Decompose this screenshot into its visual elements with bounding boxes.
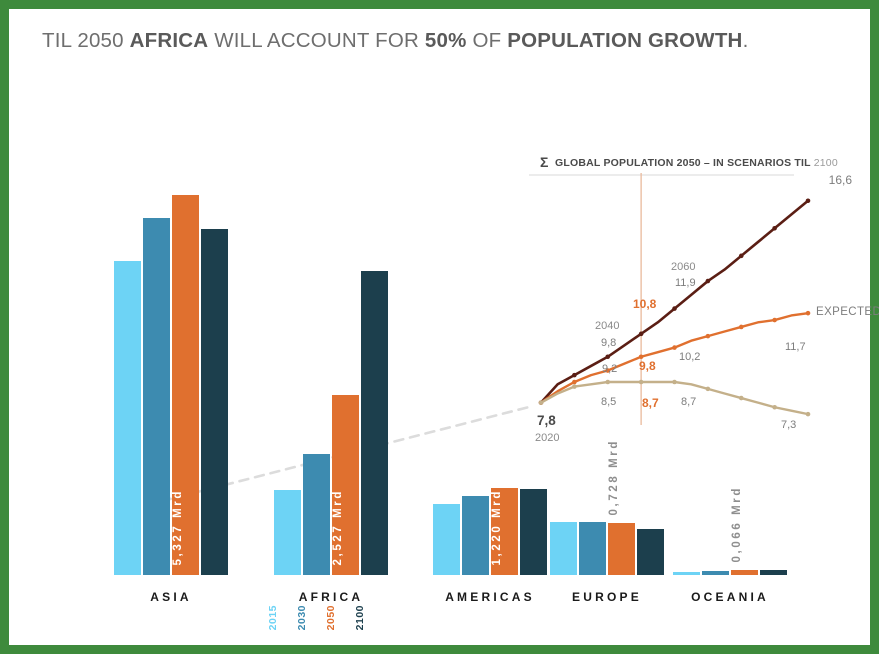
bar-asia-2100[interactable] (201, 229, 228, 575)
line-series-expected (541, 313, 808, 402)
region-label-oceania: OCEANIA (643, 590, 817, 604)
line-annotation-11: 11,7 (785, 341, 806, 353)
region-label-africa: AFRICA (244, 590, 418, 604)
bar-value-label-oceania: 0,066 Mrd (731, 486, 758, 562)
line-point-low (772, 405, 777, 410)
bar-oceania-2050[interactable] (731, 570, 758, 575)
line-point-high (605, 354, 610, 359)
line-point-expected (772, 318, 777, 323)
line-annotation-7: 8,7 (681, 396, 696, 408)
line-chart: Σ GLOBAL POPULATION 2050 – IN SCENARIOS … (529, 151, 870, 451)
line-point-low (605, 380, 610, 385)
bar-europe-2050[interactable] (608, 523, 635, 575)
bar-value-label-africa: 2,527 Mrd (332, 489, 359, 565)
bar-americas-2100[interactable] (520, 489, 547, 575)
line-point-high (706, 279, 711, 284)
legend-item-2030[interactable]: 2030 (296, 605, 308, 630)
line-point-low (739, 396, 744, 401)
line-point-high (572, 373, 577, 378)
bar-americas-2015[interactable] (433, 504, 460, 575)
region-label-asia: ASIA (84, 590, 258, 604)
line-annotation-9: 2060 (671, 261, 695, 273)
line-start-year: 2020 (535, 432, 559, 444)
line-annotation-5: 9,8 (639, 359, 656, 373)
line-annotation-10: 11,9 (675, 277, 696, 289)
line-point-high (772, 226, 777, 231)
line-annotation-12: 7,3 (781, 419, 796, 431)
line-point-high (739, 254, 744, 259)
bar-europe-2015[interactable] (550, 522, 577, 575)
legend-item-2050[interactable]: 2050 (325, 605, 337, 630)
line-annotation-2: 2040 (595, 320, 619, 332)
line-point-expected (806, 311, 811, 316)
line-point-high (639, 332, 644, 337)
bar-americas-2030[interactable] (462, 496, 489, 575)
line-annotation-4: 8,7 (642, 396, 659, 410)
bar-oceania-2015[interactable] (673, 572, 700, 575)
bar-africa-2015[interactable] (274, 490, 301, 575)
line-point-low (806, 412, 811, 417)
bar-value-label-americas: 1,220 Mrd (491, 489, 518, 565)
bar-oceania-2100[interactable] (760, 570, 787, 575)
line-chart-svg (529, 151, 870, 451)
bar-group-asia: 5,327 Mrd (114, 165, 228, 575)
legend-item-2100[interactable]: 2100 (354, 605, 366, 630)
bar-africa-2030[interactable] (303, 454, 330, 575)
line-point-expected (672, 345, 677, 350)
legend-item-2015[interactable]: 2015 (267, 605, 279, 630)
line-annotation-3: 9,8 (601, 337, 616, 349)
line-point-expected (572, 380, 577, 385)
bar-europe-2100[interactable] (637, 529, 664, 575)
line-point-low (706, 387, 711, 392)
infographic-page: TIL 2050 AFRICA WILL ACCOUNT FOR 50% OF … (9, 9, 870, 645)
bar-oceania-2030[interactable] (702, 571, 729, 575)
line-annotation-6: 10,8 (633, 297, 656, 311)
line-annotation-0: 8,5 (601, 396, 616, 408)
line-point-low (572, 384, 577, 389)
bar-asia-2015[interactable] (114, 261, 141, 575)
bar-africa-2100[interactable] (361, 271, 388, 575)
bar-asia-2030[interactable] (143, 218, 170, 575)
line-annotation-1: 9,2 (602, 363, 617, 375)
line-point-low (672, 380, 677, 385)
line-point-low (639, 380, 644, 385)
bar-europe-2030[interactable] (579, 522, 606, 575)
expected-label: EXPECTED (816, 306, 879, 318)
line-point-low (539, 400, 544, 405)
line-series-low (541, 382, 808, 414)
line-start-value: 7,8 (537, 413, 556, 428)
line-series-high (541, 201, 808, 403)
line-point-high (806, 198, 811, 203)
line-point-high (672, 306, 677, 311)
line-point-expected (739, 325, 744, 330)
line-point-expected (706, 334, 711, 339)
bar-value-label-asia: 5,327 Mrd (172, 489, 199, 565)
line-annotation-8: 10,2 (679, 351, 700, 363)
bar-group-africa: 2,527 Mrd (274, 165, 388, 575)
